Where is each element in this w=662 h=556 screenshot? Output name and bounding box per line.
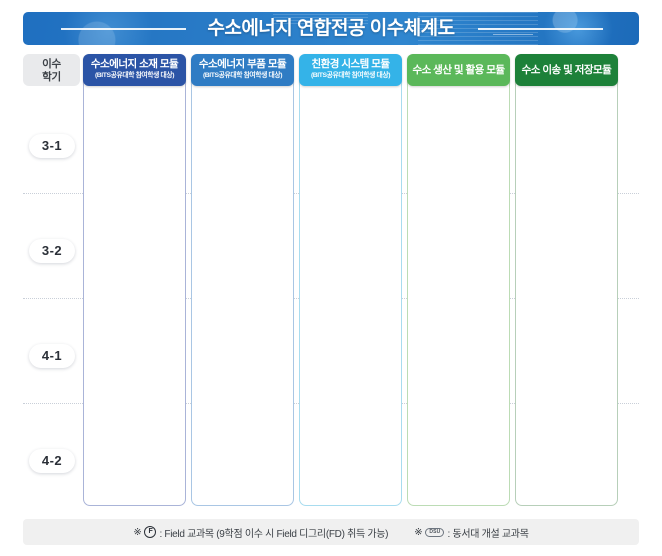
legend-dsu: ※ DSU : 동서대 개설 교과목 xyxy=(414,525,528,540)
semester-pill-3-2: 3-2 xyxy=(29,239,75,263)
dsu-badge-icon: DSU xyxy=(425,528,444,537)
module-column-body xyxy=(83,74,186,506)
field-degree-icon: F xyxy=(144,526,156,538)
module-header-title: 수소에너지 부품 모듈 xyxy=(191,58,294,70)
legend-field-text: : Field 교과목 (9학점 이수 시 Field 디그리(FD) 취득 가… xyxy=(159,525,388,540)
page-title: 수소에너지 연합전공 이수체계도 xyxy=(23,12,639,45)
semester-pill-4-2: 4-2 xyxy=(29,449,75,473)
module-header-2[interactable]: 수소에너지 부품 모듈(BITS공유대학 참여학생 대상) xyxy=(191,54,294,86)
module-header-subtitle: (BITS공유대학 참여학생 대상) xyxy=(83,70,186,81)
module-column-body xyxy=(191,74,294,506)
semester-column: 이수학기3-13-24-14-2 xyxy=(23,54,80,506)
legend-dsu-text: : 동서대 개설 교과목 xyxy=(447,525,528,540)
module-header-5[interactable]: 수소 이송 및 저장모듈 xyxy=(515,54,618,86)
semester-pill-3-1: 3-1 xyxy=(29,134,75,158)
legend-field: ※ F : Field 교과목 (9학점 이수 시 Field 디그리(FD) … xyxy=(133,525,388,540)
module-column-2: 수소에너지 부품 모듈(BITS공유대학 참여학생 대상)수소생산부품공학,수소… xyxy=(191,54,294,506)
module-column-body xyxy=(299,74,402,506)
module-header-4[interactable]: 수소 생산 및 활용 모듈 xyxy=(407,54,510,86)
semester-column-header: 이수학기 xyxy=(23,54,80,86)
module-column-body xyxy=(515,74,618,506)
legend-bullet-2: ※ xyxy=(414,527,422,538)
module-header-title: 친환경 시스템 모듈 xyxy=(299,58,402,70)
semester-header-line1: 이수 xyxy=(42,58,61,70)
roadmap-grid: 이수학기3-13-24-14-2수소에너지 소재 모듈(BITS공유대학 참여학… xyxy=(23,54,639,506)
semester-pill-4-1: 4-1 xyxy=(29,344,75,368)
legend-footer: ※ F : Field 교과목 (9학점 이수 시 Field 디그리(FD) … xyxy=(23,519,639,545)
module-column-3: 친환경 시스템 모듈(BITS공유대학 참여학생 대상)수소생산시스템공학,친환… xyxy=(299,54,402,506)
legend-bullet-1: ※ xyxy=(133,527,141,538)
module-header-title: 수소에너지 소재 모듈 xyxy=(83,58,186,70)
module-column-1: 수소에너지 소재 모듈(BITS공유대학 참여학생 대상)수소산업활용금속소재촉… xyxy=(83,54,186,506)
module-header-subtitle: (BITS공유대학 참여학생 대상) xyxy=(299,70,402,81)
module-header-title: 수소 이송 및 저장모듈 xyxy=(515,54,618,86)
module-header-subtitle: (BITS공유대학 참여학생 대상) xyxy=(191,70,294,81)
semester-header-line2: 학기 xyxy=(42,71,61,83)
module-header-3[interactable]: 친환경 시스템 모듈(BITS공유대학 참여학생 대상) xyxy=(299,54,402,86)
module-header-title: 수소 생산 및 활용 모듈 xyxy=(407,54,510,86)
module-column-body xyxy=(407,74,510,506)
module-column-4: 수소 생산 및 활용 모듈수소생산기술공학 DSU열전달, LNG생산공학수소연… xyxy=(407,54,510,506)
curriculum-roadmap-page: 수소에너지 연합전공 이수체계도 이수학기3-13-24-14-2수소에너지 소… xyxy=(0,0,662,556)
module-column-5: 수소 이송 및 저장모듈수소소재개론,수소저장및이송공학 DSU유체역학II,열… xyxy=(515,54,618,506)
title-banner: 수소에너지 연합전공 이수체계도 xyxy=(23,12,639,45)
module-header-1[interactable]: 수소에너지 소재 모듈(BITS공유대학 참여학생 대상) xyxy=(83,54,186,86)
